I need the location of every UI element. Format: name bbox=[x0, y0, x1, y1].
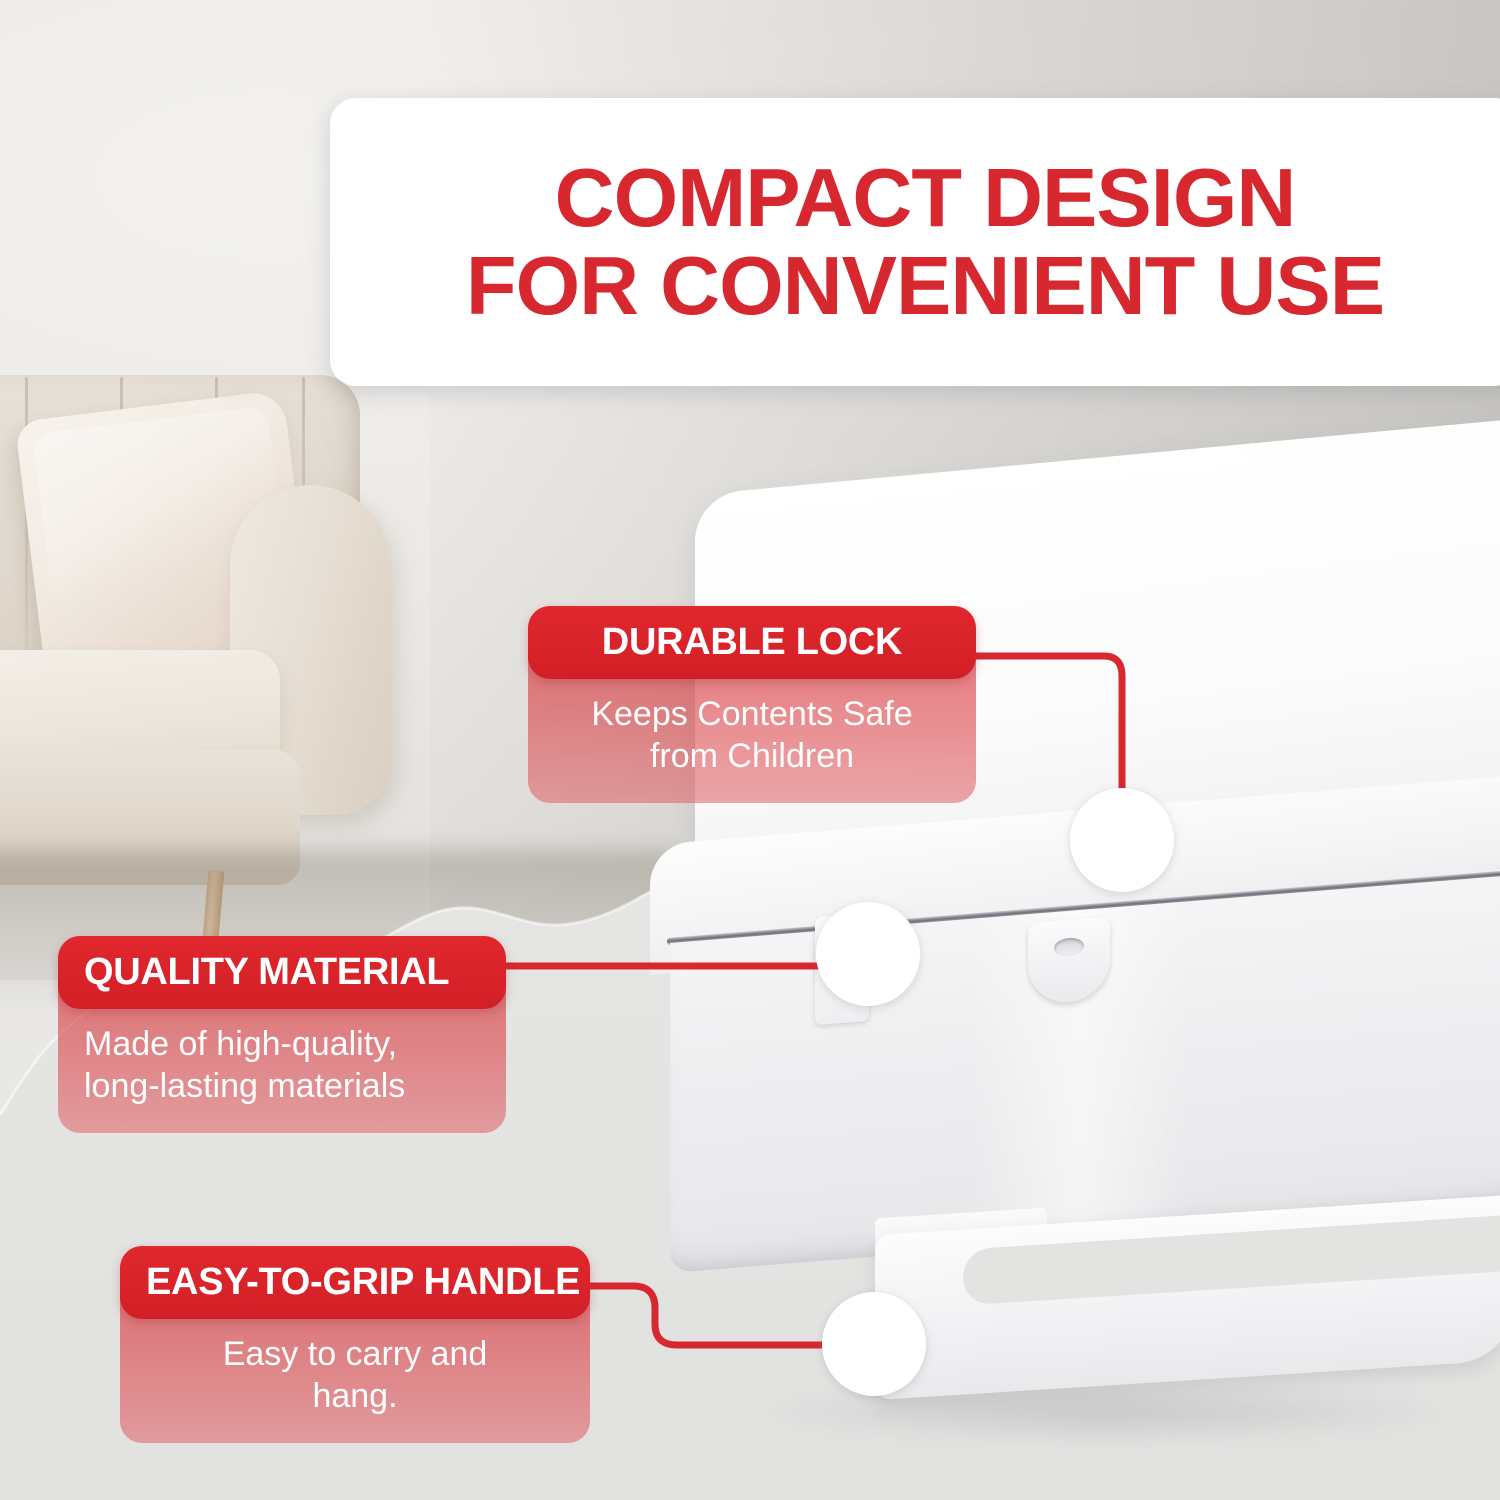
page-title-line1: COMPACT DESIGN bbox=[555, 151, 1296, 244]
infographic-canvas: ER ever ready first aid brooklyn, ny usa… bbox=[0, 0, 1500, 1500]
feature-description: Keeps Contents Safe from Children bbox=[554, 693, 950, 777]
feature-description: Easy to carry and hang. bbox=[146, 1333, 564, 1417]
feature-card-quality-material: QUALITY MATERIAL Made of high-quality, l… bbox=[58, 936, 506, 1133]
feature-card-header: QUALITY MATERIAL bbox=[58, 936, 506, 1009]
feature-title: EASY-TO-GRIP HANDLE bbox=[146, 1263, 564, 1301]
kit-drop-shadow bbox=[695, 1375, 1500, 1465]
feature-card-durable-lock: DURABLE LOCK Keeps Contents Safe from Ch… bbox=[528, 606, 976, 803]
feature-title: QUALITY MATERIAL bbox=[84, 953, 480, 991]
feature-card-easy-grip-handle: EASY-TO-GRIP HANDLE Easy to carry and ha… bbox=[120, 1246, 590, 1443]
feature-card-header: EASY-TO-GRIP HANDLE bbox=[120, 1246, 590, 1319]
page-title-line2: FOR CONVENIENT USE bbox=[466, 239, 1384, 332]
page-title: COMPACT DESIGN FOR CONVENIENT USE bbox=[466, 154, 1384, 330]
hotspot-dot-durable-lock bbox=[1070, 788, 1174, 892]
feature-description: Made of high-quality, long-lasting mater… bbox=[84, 1023, 480, 1107]
feature-card-header: DURABLE LOCK bbox=[528, 606, 976, 679]
feature-title: DURABLE LOCK bbox=[554, 623, 950, 661]
hotspot-dot-quality-material bbox=[816, 902, 920, 1006]
hotspot-dot-easy-grip-handle bbox=[822, 1292, 926, 1396]
headline-banner: COMPACT DESIGN FOR CONVENIENT USE bbox=[330, 98, 1500, 386]
